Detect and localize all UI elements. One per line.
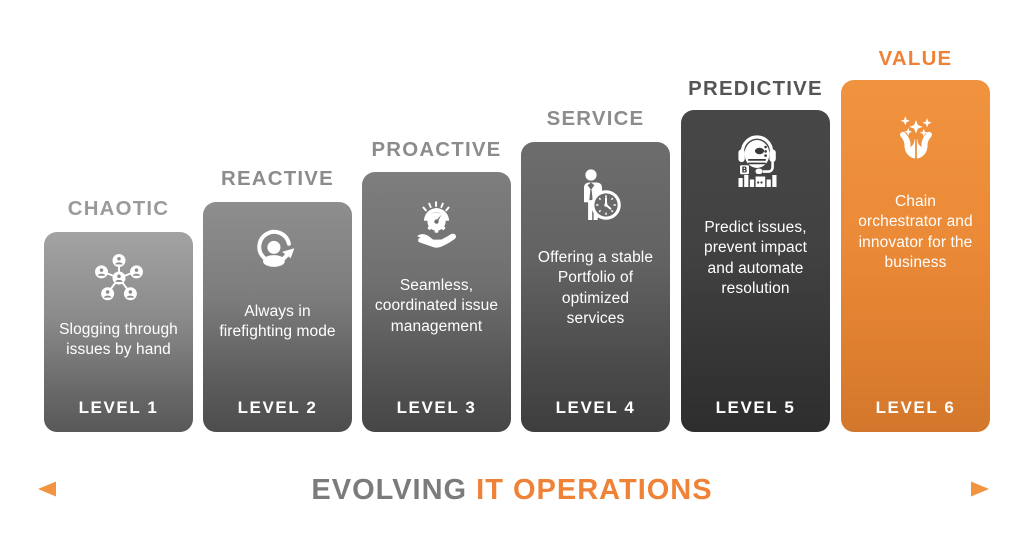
level-card-2[interactable]: Always in firefighting mode LEVEL 2 xyxy=(203,202,352,432)
maturity-model-diagram: CHAOTIC xyxy=(0,0,1024,536)
level-description-1: Slogging through issues by hand xyxy=(55,320,183,361)
svg-text:B: B xyxy=(741,165,747,174)
footer-caption-orange: IT OPERATIONS xyxy=(476,474,712,506)
level-description-4: Offering a stable Portfolio of optimized… xyxy=(532,248,660,330)
level-title-3: PROACTIVE xyxy=(361,139,513,162)
level-label-4: LEVEL 4 xyxy=(521,398,670,418)
level-label-5: LEVEL 5 xyxy=(681,398,830,418)
level-label-2: LEVEL 2 xyxy=(203,398,352,418)
level-card-1[interactable]: Slogging through issues by hand LEVEL 1 xyxy=(44,232,193,432)
level-label-3: LEVEL 3 xyxy=(362,398,511,418)
footer-caption-gray: EVOLVING xyxy=(311,474,467,506)
level-card-4[interactable]: Offering a stable Portfolio of optimized… xyxy=(521,142,670,432)
hands-holding-sparkles-icon xyxy=(841,106,990,168)
level-title-1: CHAOTIC xyxy=(43,198,195,221)
businessman-with-clock-icon xyxy=(521,164,670,228)
gauge-on-hand-icon xyxy=(362,192,511,254)
level-description-5: Predict issues, prevent impact and autom… xyxy=(692,218,820,300)
level-title-5: PREDICTIVE xyxy=(680,78,832,101)
level-card-6[interactable]: Chain orchestrator and innovator for the… xyxy=(841,80,990,432)
network-hub-people-icon xyxy=(44,250,193,306)
user-refresh-icon xyxy=(203,222,352,280)
level-label-6: LEVEL 6 xyxy=(841,398,990,418)
level-label-1: LEVEL 1 xyxy=(44,398,193,418)
footer-axis: EVOLVING IT OPERATIONS xyxy=(0,462,1024,518)
footer-caption: EVOLVING IT OPERATIONS xyxy=(0,462,1024,518)
level-description-3: Seamless, coordinated issue management xyxy=(373,276,501,337)
level-description-2: Always in firefighting mode xyxy=(214,302,342,343)
level-title-4: SERVICE xyxy=(520,108,672,131)
level-title-2: REACTIVE xyxy=(202,168,354,191)
level-card-3[interactable]: Seamless, coordinated issue management L… xyxy=(362,172,511,432)
level-title-6: VALUE xyxy=(840,48,992,71)
support-agent-headset-icon: B xyxy=(681,132,830,196)
level-description-6: Chain orchestrator and innovator for the… xyxy=(852,192,980,274)
level-card-5[interactable]: B Predict xyxy=(681,110,830,432)
